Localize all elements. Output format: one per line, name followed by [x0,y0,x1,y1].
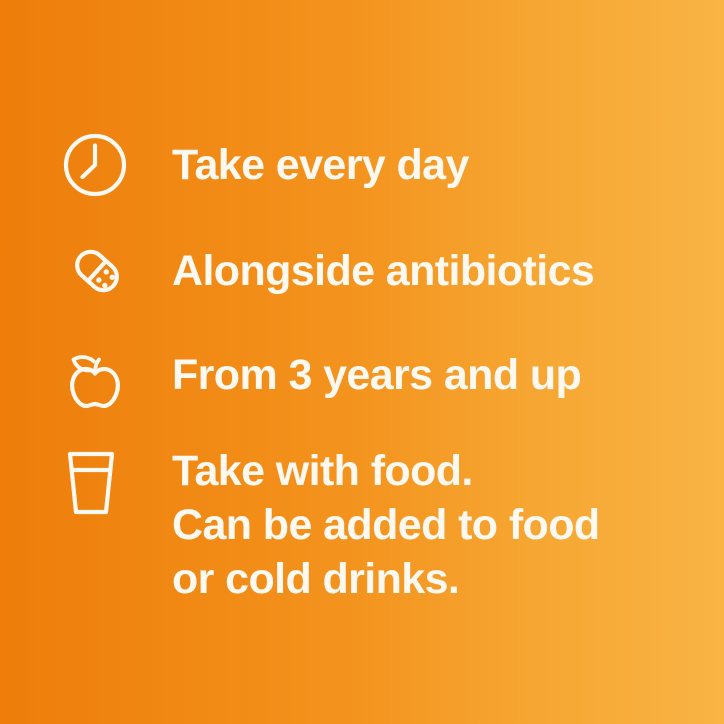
list-item: Take with food. Can be added to food or … [62,444,662,607]
drinking-glass-icon [62,444,140,528]
list-item-line: Take every day [172,138,662,192]
list-item-line: or cold drinks. [172,552,662,606]
apple-icon [62,336,140,414]
list-item: Alongside antibiotics [62,232,662,310]
instructions-infographic: Take every day Alongside antib [0,0,724,724]
list-item-text: Alongside antibiotics [140,232,662,310]
list-item-text: Take with food. Can be added to food or … [140,444,662,607]
list-item-line: Can be added to food [172,498,662,552]
list-item: From 3 years and up [62,336,662,414]
list-item: Take every day [62,126,662,204]
instruction-list: Take every day Alongside antib [62,126,662,607]
list-item-line: From 3 years and up [172,348,662,402]
plaster-bandage-icon [62,232,140,310]
list-item-line: Take with food. [172,444,662,498]
list-item-text: Take every day [140,126,662,204]
list-item-line: Alongside antibiotics [172,244,662,298]
clock-icon [62,126,140,204]
list-item-text: From 3 years and up [140,336,662,414]
